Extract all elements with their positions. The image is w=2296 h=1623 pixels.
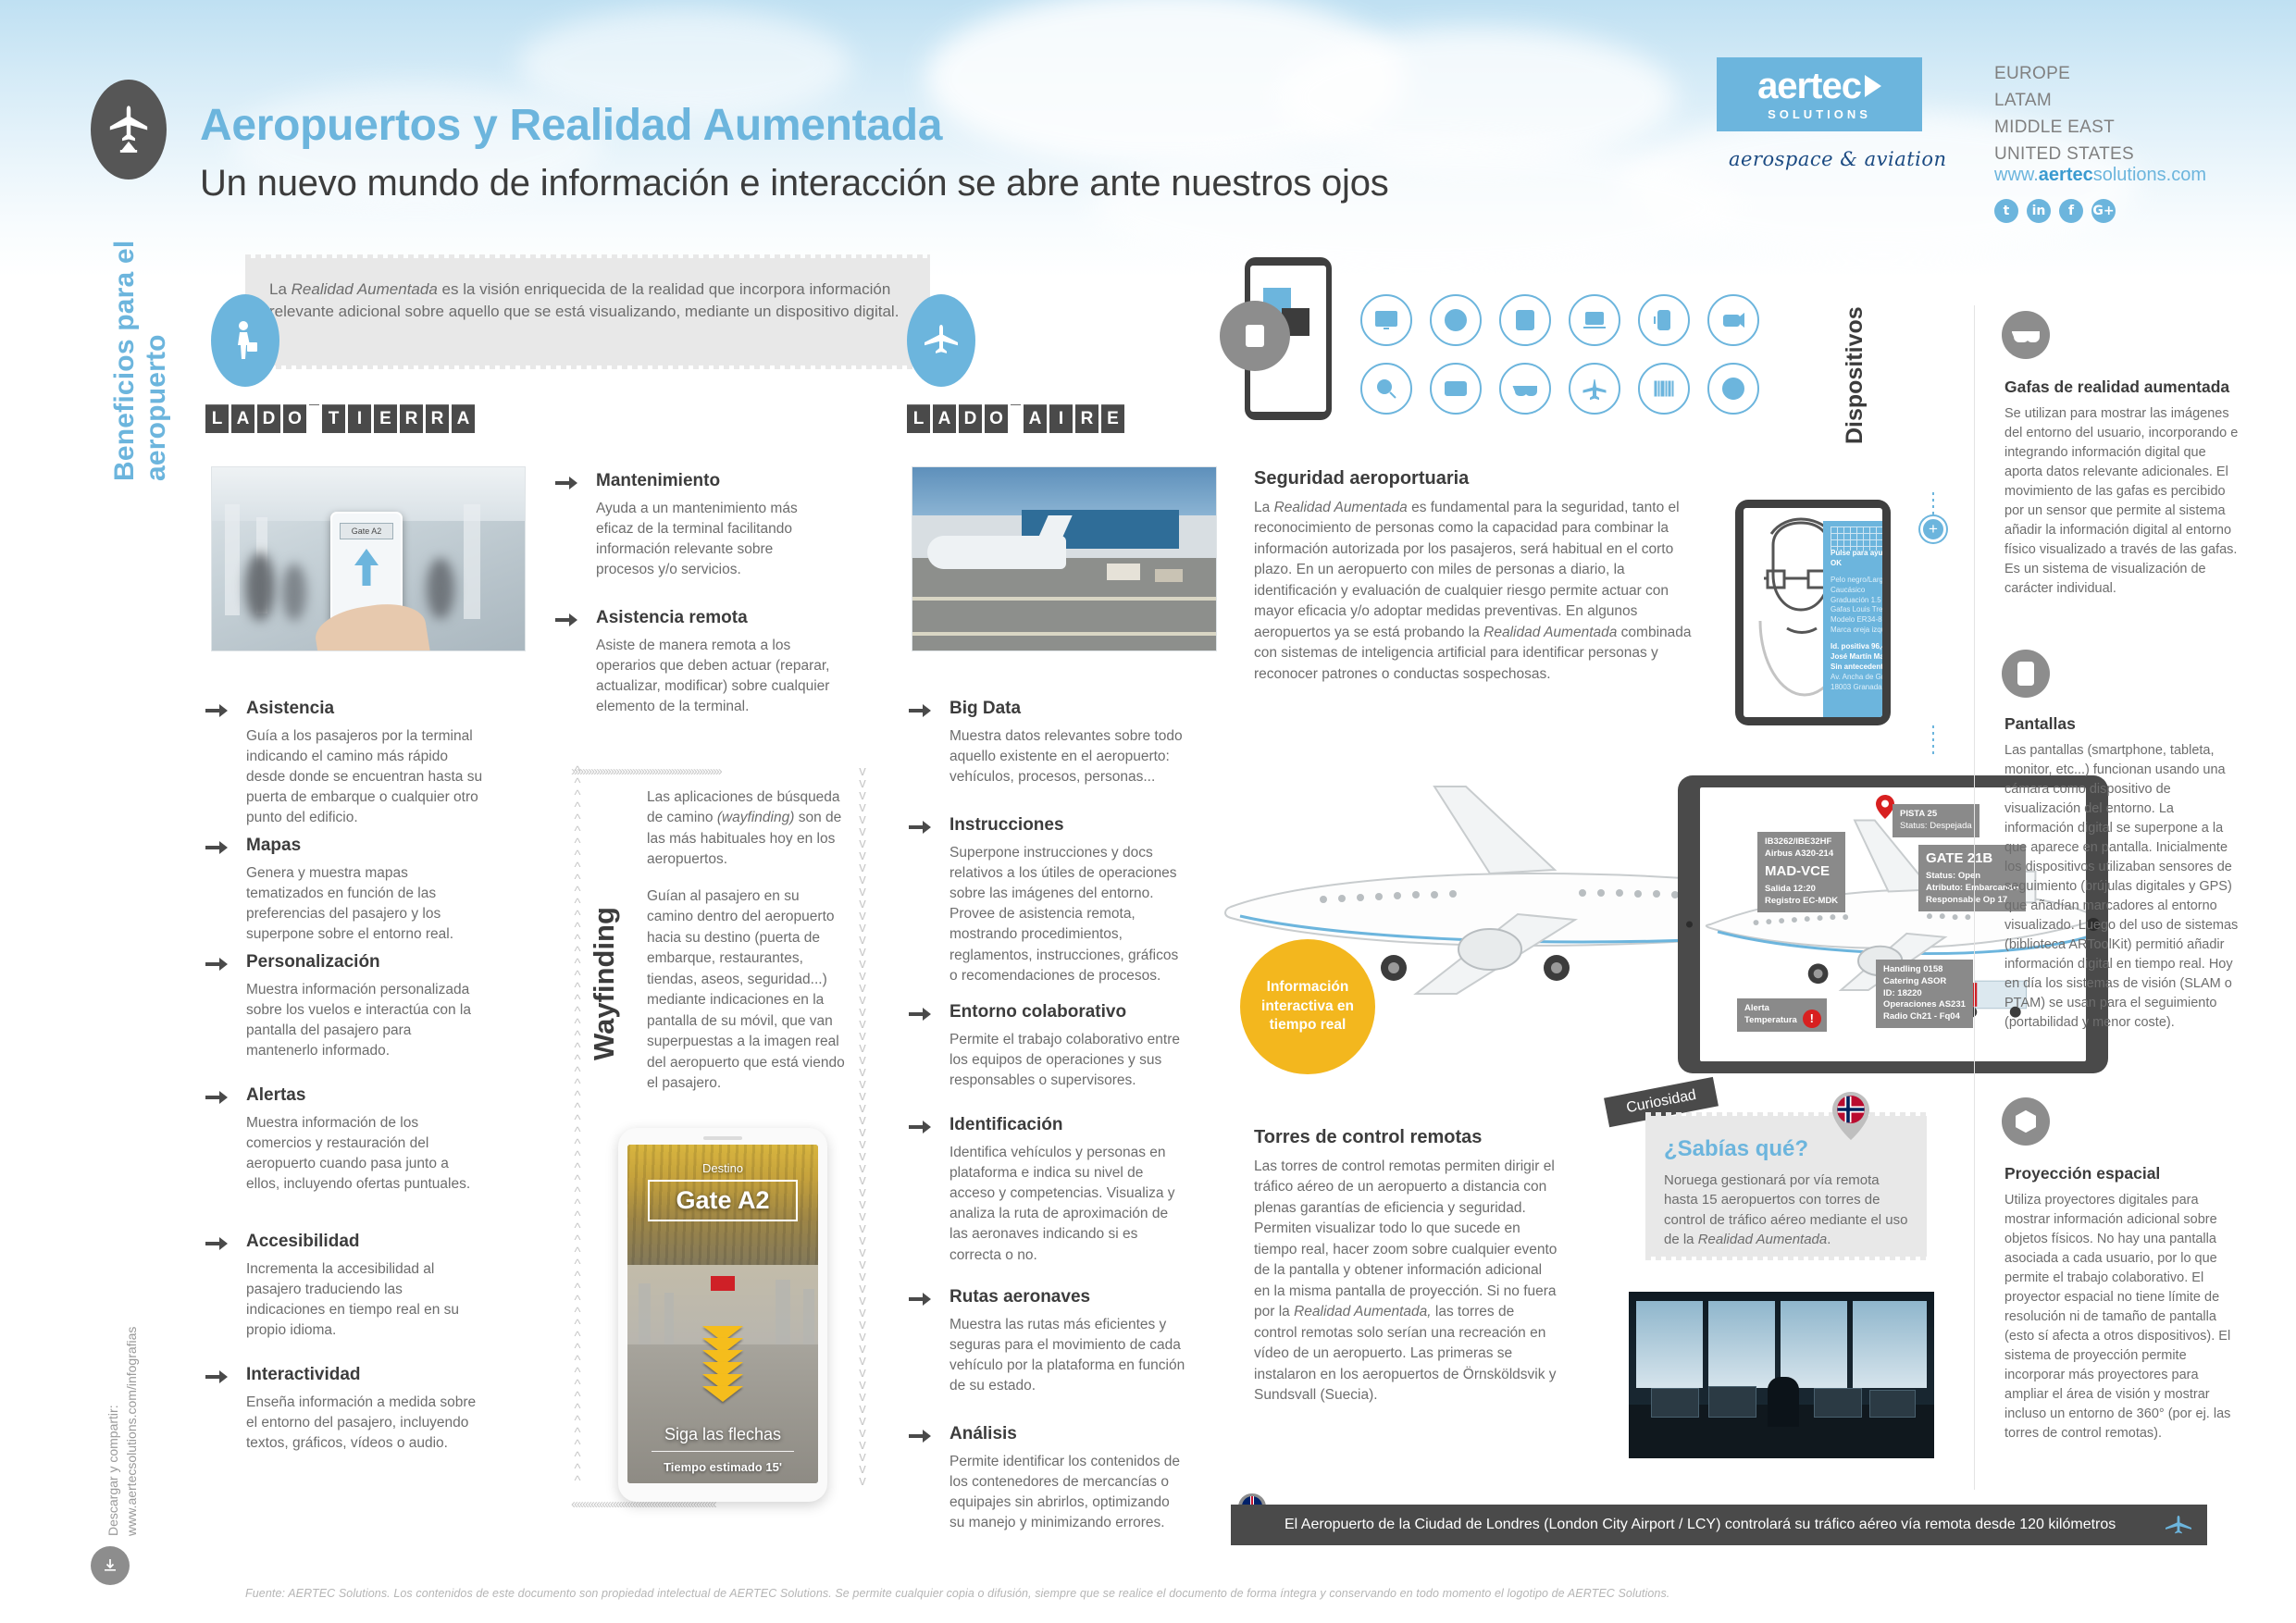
twitter-icon[interactable]: t (1994, 199, 2018, 223)
footer-text: Fuente: AERTEC Solutions. Los contenidos… (245, 1587, 1669, 1600)
panel-border-right: vvvvvvvvvvvvvvvvvvvvvvvvvvvvvvvvvvvvvvvv… (856, 765, 869, 1511)
arrow-icon (909, 701, 931, 720)
region-item: MIDDLE EAST (1994, 115, 2134, 142)
devices-icon-row-2 (1360, 363, 1759, 415)
phone-gate-value: Gate A2 (648, 1180, 798, 1221)
face-info-overlay: Pulse para ayuda OK Pelo negro/Largo 4,3… (1823, 521, 1882, 717)
apron-photo (912, 466, 1217, 651)
logo-wordmark: aertec (1757, 68, 1861, 105)
sidebar-section-gafas: Gafas de realidad aumentada Se utilizan … (2004, 378, 2241, 599)
arrow-icon (909, 818, 931, 836)
bottom-banner: El Aeropuerto de la Ciudad de Londres (L… (1231, 1505, 2207, 1545)
arrow-icon (205, 1088, 228, 1107)
airplane-icon (907, 294, 975, 387)
wayfinding-phone-mockup: Destino Gate A2 Siga las flechas Tiempo … (618, 1128, 827, 1502)
cube-icon (2002, 1097, 2050, 1146)
sidebar-section-pantallas: Pantallas Las pantallas (smartphone, tab… (2004, 714, 2241, 1033)
signature-icon (1831, 527, 1882, 551)
arrow-icon (909, 1005, 931, 1023)
wayfinding-label: Wayfinding (588, 854, 621, 1113)
arrow-icon (205, 1234, 228, 1253)
tag-flight-info: IB3262/IBE32HFAirbus A320-214 MAD-VCE Sa… (1757, 832, 1845, 912)
laptop-icon[interactable] (1569, 294, 1620, 346)
phone-eta-text: Tiempo estimado 15' (627, 1460, 818, 1474)
arrow-icon (205, 838, 228, 857)
phone-screen: Destino Gate A2 Siga las flechas Tiempo … (627, 1145, 818, 1483)
feature-alertas: AlertasMuestra información de los comerc… (205, 1084, 483, 1195)
scan-icon[interactable] (1360, 363, 1412, 415)
face-tablet-device: Pulse para ayuda OK Pelo negro/Largo 4,3… (1735, 500, 1891, 725)
logo-tagline: aerospace & aviation (1729, 148, 1947, 170)
passenger-icon (211, 294, 279, 387)
page-title: Aeropuertos y Realidad Aumentada (200, 100, 942, 151)
tablet-icon[interactable] (1499, 294, 1551, 346)
regions-list: EUROPE LATAM MIDDLE EAST UNITED STATES (1994, 61, 2134, 168)
drone-icon[interactable] (1569, 363, 1620, 415)
intro-callout: La Realidad Aumentada es la visión enriq… (245, 258, 930, 365)
feature-identificacion: IdentificaciónIdentifica vehículos y per… (909, 1114, 1186, 1266)
device-icon[interactable] (1638, 294, 1690, 346)
device-grey-circle-icon (1220, 301, 1290, 371)
arrow-icon (555, 474, 577, 492)
feature-accesibilidad: AccesibilidadIncrementa la accesibilidad… (205, 1231, 483, 1341)
feature-mantenimiento: Mantenimiento Ayuda a un mantenimiento m… (555, 470, 833, 580)
terminal-sign (711, 1276, 735, 1291)
tag-alerta-temperatura: AlertaTemperatura ! (1737, 998, 1827, 1032)
globe-icon[interactable] (1707, 363, 1759, 415)
phone-destino-label: Destino (627, 1161, 818, 1175)
aertec-logo: aertec SOLUTIONS (1717, 57, 1922, 131)
facebook-icon[interactable]: f (2059, 199, 2083, 223)
smartphone-icon (2002, 650, 2050, 698)
info-icon[interactable] (1430, 294, 1482, 346)
feature-analisis: AnálisisPermite identificar los contenid… (909, 1423, 1186, 1533)
linkedin-icon[interactable]: in (2027, 199, 2051, 223)
section-torres-control-remotas: Torres de control remotas Las torres de … (1254, 1127, 1559, 1406)
feature-instrucciones: InstruccionesSuperpone instrucciones y d… (909, 814, 1186, 986)
download-label: Descargar y compartir:www.aertecsolution… (104, 1184, 142, 1536)
section-tag-lado-tierra: LADOTIERRA (205, 404, 475, 433)
glasses-icon[interactable] (1499, 363, 1551, 415)
ar-chevron-arrows-icon (702, 1326, 743, 1398)
tag-handling-info: Handling 0158Catering ASORID: 18220Opera… (1876, 960, 1973, 1028)
feature-mapas: MapasGenera y muestra mapas tematizados … (205, 835, 483, 945)
glasses-icon (2002, 311, 2050, 359)
arrow-icon (909, 1290, 931, 1308)
devices-icon-row-1 (1360, 294, 1759, 346)
norway-flag-pin-icon (1832, 1092, 1869, 1140)
alert-icon: ! (1803, 1010, 1821, 1028)
feature-entorno-colaborativo: Entorno colaborativoPermite el trabajo c… (909, 1001, 1186, 1091)
plus-node-icon[interactable]: + (1920, 516, 1946, 542)
panel-border-left: ^^^^^^^^^^^^^^^^^^^^^^^^^^^^^^^^^^^^^^^^… (571, 765, 584, 1511)
googleplus-icon[interactable]: G+ (2091, 199, 2116, 223)
page-subtitle: Un nuevo mundo de información e interacc… (200, 163, 1389, 204)
ar-face-recognition-scene: Pulse para ayuda OK Pelo negro/Largo 4,3… (1735, 500, 1962, 740)
benefits-vertical-label: Beneficios para el aeropuerto (109, 93, 172, 481)
banner-plane-icon (2165, 1515, 2192, 1535)
phone-speaker (703, 1136, 742, 1140)
wayfinding-panel: ››››››››››››››››››››››››››››››››››››››››… (571, 765, 869, 1511)
map-pin-icon (1876, 795, 1894, 819)
terminal-photo: Gate A2 (211, 466, 526, 651)
monitor-icon[interactable] (1360, 294, 1412, 346)
arrow-icon (205, 955, 228, 973)
wayfinding-text: Las aplicaciones de búsqueda de camino (… (647, 787, 849, 1095)
arrow-icon (909, 1118, 931, 1136)
section-seguridad-aeroportuaria: Seguridad aeroportuaria La Realidad Aume… (1254, 468, 1698, 685)
projector-icon[interactable] (1707, 294, 1759, 346)
phone-follow-text: Siga las flechas (627, 1425, 818, 1444)
section-tag-lado-aire: LADOAIRE (907, 404, 1124, 433)
social-links: t in f G+ (1994, 199, 2116, 223)
tag-pista: PISTA 25Status: Despejada (1893, 804, 1980, 837)
control-tower-photo (1629, 1292, 1934, 1458)
arrow-icon (205, 701, 228, 720)
logo-subtext: SOLUTIONS (1768, 107, 1871, 121)
sidebar-section-proyeccion: Proyección espacial Utiliza proyectores … (2004, 1164, 2241, 1443)
feature-asistencia-remota: Asistencia remota Asiste de manera remot… (555, 607, 833, 717)
logo-triangle-icon (1865, 75, 1881, 97)
infographic-page: Aeropuertos y Realidad Aumentada Un nuev… (0, 0, 2296, 1623)
website-link[interactable]: www.aertecsolutions.com (1994, 165, 2206, 186)
arrow-icon (205, 1368, 228, 1386)
banner-text: El Aeropuerto de la Ciudad de Londres (L… (1285, 1517, 2116, 1533)
arrow-icon (909, 1427, 931, 1445)
sidebar-divider (1974, 305, 1975, 1490)
feature-asistencia: AsistenciaGuía a los pasajeros por la te… (205, 698, 483, 829)
info-bubble: Información interactiva en tiempo real (1240, 939, 1375, 1074)
feature-big-data: Big DataMuestra datos relevantes sobre t… (909, 698, 1186, 787)
region-item: LATAM (1994, 88, 2134, 115)
download-icon[interactable] (91, 1546, 130, 1585)
curiosidad-title: ¿Sabías qué? (1664, 1136, 1908, 1162)
panel-border-top: ››››››››››››››››››››››››››››››››››››››››… (571, 765, 869, 778)
feature-interactividad: InteractividadEnseña información a medid… (205, 1364, 483, 1454)
card-icon[interactable] (1430, 363, 1482, 415)
photo-phone-gate-label: Gate A2 (340, 523, 393, 539)
region-item: EUROPE (1994, 61, 2134, 88)
devices-vertical-label: Dispositivos (1842, 213, 1868, 444)
feature-personalizacion: PersonalizaciónMuestra información perso… (205, 951, 483, 1061)
barcode-icon[interactable] (1638, 363, 1690, 415)
overlay-ok: OK (1831, 559, 1842, 567)
arrow-icon (555, 611, 577, 629)
feature-rutas-aeronaves: Rutas aeronavesMuestra las rutas más efi… (909, 1286, 1186, 1396)
curiosidad-box: ¿Sabías qué? Noruega gestionará por vía … (1645, 1116, 1927, 1257)
